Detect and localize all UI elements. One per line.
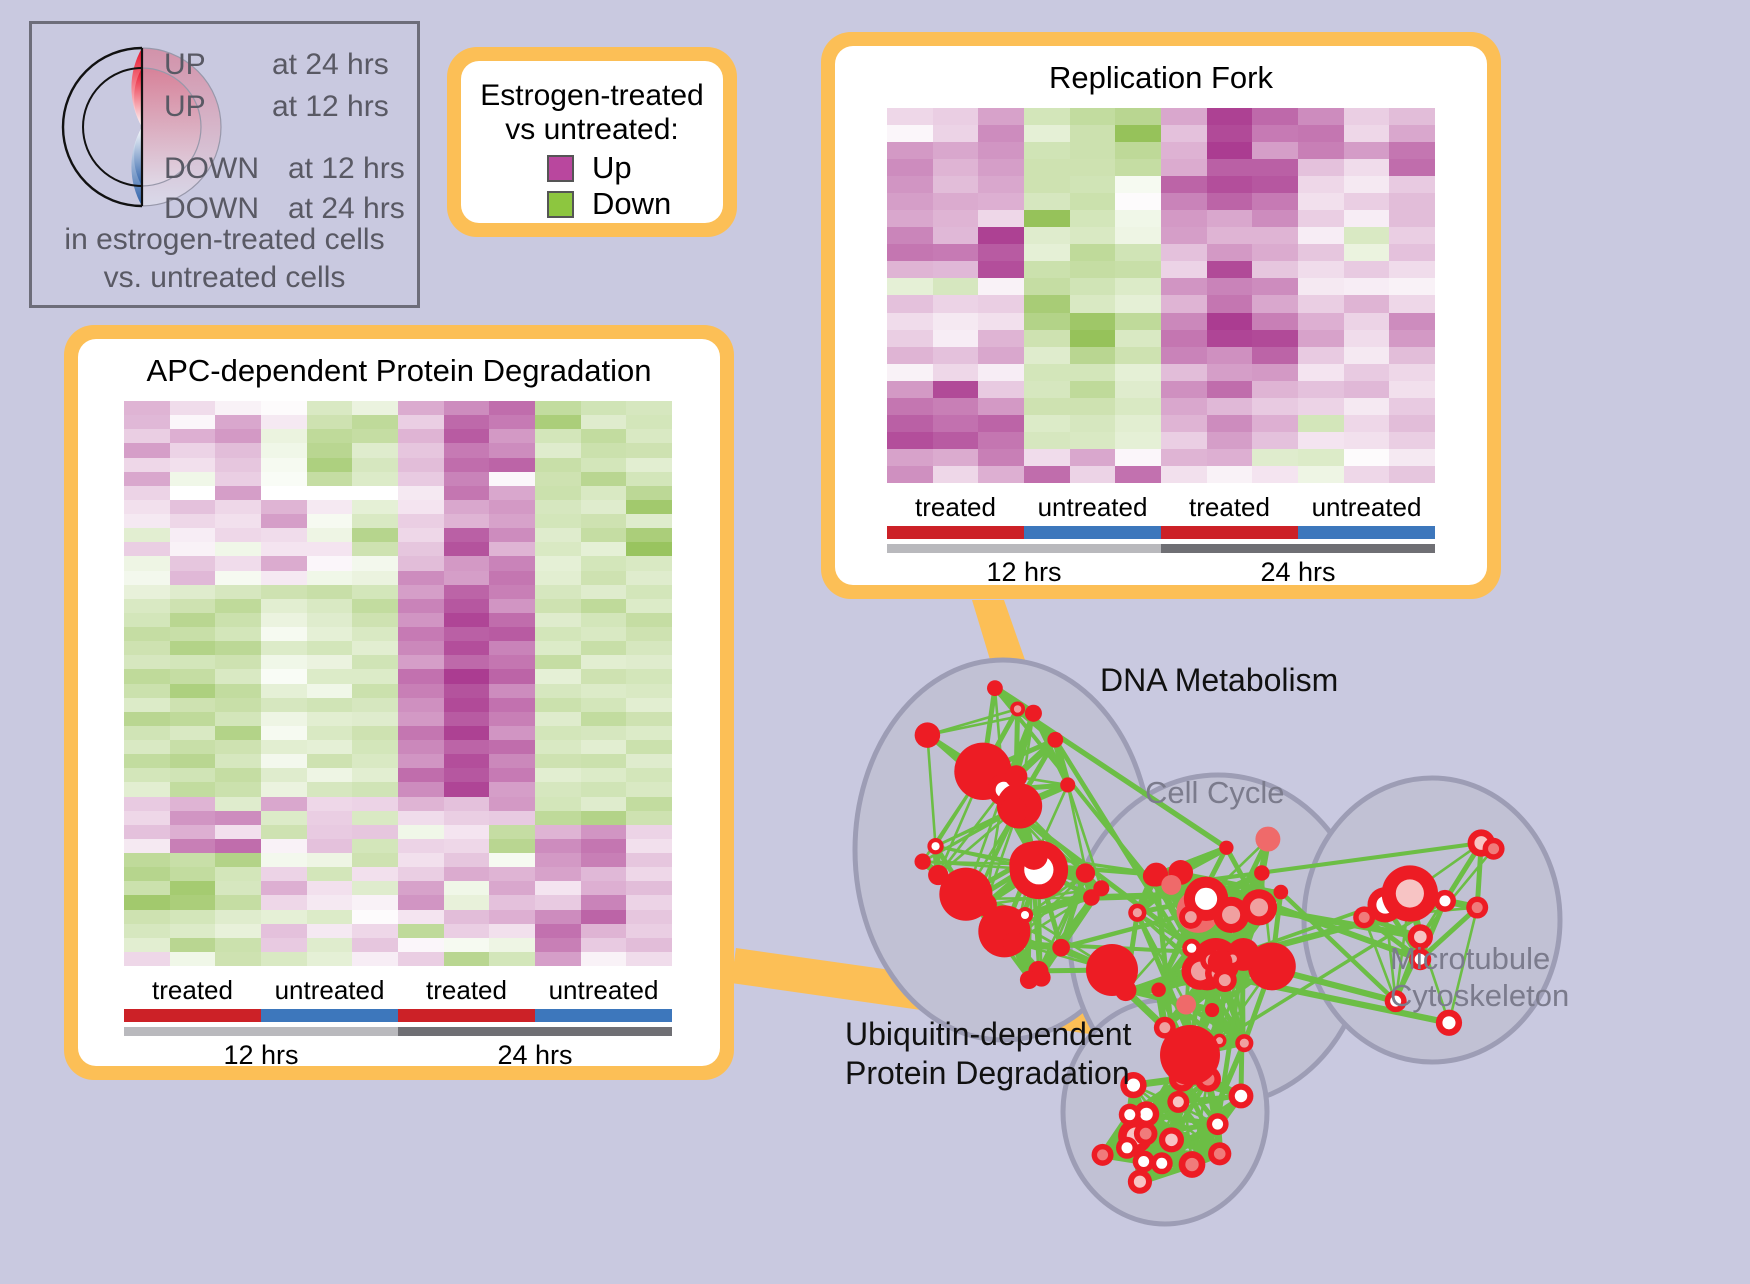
heatmap-cell <box>170 627 216 641</box>
heatmap-cell <box>1161 364 1207 381</box>
heatmap-group-label: treated <box>887 492 1024 523</box>
heatmap-cell <box>170 811 216 825</box>
heatmap-cell <box>887 159 933 176</box>
heatmap-cell <box>978 176 1024 193</box>
heatmap-cell <box>124 754 170 768</box>
heatmap-cell <box>352 797 398 811</box>
heatmap-cell <box>1207 466 1253 483</box>
heatmap-cell <box>1252 398 1298 415</box>
heatmap-group-label: untreated <box>535 975 672 1006</box>
heatmap-cell <box>626 486 672 500</box>
heatmap-cell <box>215 712 261 726</box>
apc-heatmap <box>124 401 672 966</box>
heatmap-cell <box>261 627 307 641</box>
heatmap-cell <box>307 655 353 669</box>
heatmap-cell <box>535 542 581 556</box>
heatmap-cell <box>1070 261 1116 278</box>
heatmap-cell <box>1207 159 1253 176</box>
heatmap-cell <box>398 881 444 895</box>
heatmap-cell <box>170 458 216 472</box>
heatmap-cell <box>1252 244 1298 261</box>
network-node <box>1005 765 1027 787</box>
heatmap-cell <box>444 401 490 415</box>
heatmap-cell <box>535 684 581 698</box>
heatmap-cell <box>933 176 979 193</box>
heatmap-cell <box>887 176 933 193</box>
heatmap-cell <box>261 938 307 952</box>
network-node-core <box>931 842 939 850</box>
heatmap-cell <box>170 401 216 415</box>
heatmap-cell <box>261 825 307 839</box>
heatmap-cell <box>887 244 933 261</box>
heatmap-cell <box>626 429 672 443</box>
heatmap-cell <box>215 472 261 486</box>
heatmap-cell <box>352 458 398 472</box>
heatmap-cell <box>1252 159 1298 176</box>
heatmap-cell <box>1161 330 1207 347</box>
heatmap-cell <box>978 364 1024 381</box>
network-node <box>928 865 948 885</box>
heatmap-cell <box>124 458 170 472</box>
heatmap-cell <box>352 895 398 909</box>
heatmap-cell <box>1070 364 1116 381</box>
heatmap-cell <box>1389 347 1435 364</box>
heatmap-cell <box>1161 415 1207 432</box>
heatmap-cell <box>307 938 353 952</box>
heatmap-cell <box>626 797 672 811</box>
heatmap-cell <box>887 261 933 278</box>
heatmap-cell <box>1344 278 1390 295</box>
heatmap-cell <box>626 472 672 486</box>
heatmap-time-rail-segment <box>124 1027 398 1036</box>
heatmap-cell <box>581 613 627 627</box>
network-node <box>1025 705 1042 722</box>
legend-swatch-down <box>547 191 574 218</box>
heatmap-cell <box>261 655 307 669</box>
heatmap-cell <box>489 514 535 528</box>
heatmap-cell <box>581 825 627 839</box>
network-node-core <box>1359 912 1370 923</box>
heatmap-cell <box>1252 176 1298 193</box>
heatmap-cell <box>1024 176 1070 193</box>
heatmap-cell <box>170 443 216 457</box>
heatmap-cell <box>1298 364 1344 381</box>
heatmap-cell <box>352 585 398 599</box>
heatmap-cell <box>444 415 490 429</box>
heatmap-cell <box>933 347 979 364</box>
heatmap-cell <box>170 585 216 599</box>
heatmap-cell <box>1207 193 1253 210</box>
heatmap-time-rail-segment <box>1161 544 1435 553</box>
heatmap-cell <box>978 432 1024 449</box>
heatmap-cell <box>1252 193 1298 210</box>
network-node <box>1219 841 1233 855</box>
heatmap-cell <box>261 599 307 613</box>
heatmap-cell <box>398 514 444 528</box>
heatmap-cell <box>933 125 979 142</box>
heatmap-cell <box>261 571 307 585</box>
heatmap-cell <box>352 443 398 457</box>
heatmap-cell <box>978 210 1024 227</box>
heatmap-cell <box>1389 295 1435 312</box>
heatmap-cell <box>1298 330 1344 347</box>
heatmap-cell <box>444 698 490 712</box>
heatmap-cell <box>933 261 979 278</box>
heatmap-cell <box>398 684 444 698</box>
heatmap-cell <box>398 853 444 867</box>
heatmap-group-label: treated <box>1161 492 1298 523</box>
heatmap-cell <box>626 556 672 570</box>
heatmap-cell <box>261 726 307 740</box>
heatmap-cell <box>887 313 933 330</box>
heatmap-cell <box>1252 449 1298 466</box>
heatmap-cell <box>489 782 535 796</box>
heatmap-cell <box>489 627 535 641</box>
network-node-core <box>1222 906 1240 924</box>
heatmap-cell <box>1207 381 1253 398</box>
heatmap-cell <box>581 867 627 881</box>
network-node-core <box>1488 843 1499 854</box>
heatmap-cell <box>1389 244 1435 261</box>
heatmap-cell <box>398 754 444 768</box>
heatmap-cell <box>581 839 627 853</box>
heatmap-cell <box>398 669 444 683</box>
heatmap-cell <box>1207 176 1253 193</box>
heatmap-cell <box>1344 159 1390 176</box>
heatmap-cell <box>1024 193 1070 210</box>
heatmap-cell <box>535 458 581 472</box>
heatmap-cell <box>1024 142 1070 159</box>
heatmap-cell <box>489 542 535 556</box>
heatmap-cell <box>581 797 627 811</box>
heatmap-cell <box>170 599 216 613</box>
heatmap-cell <box>489 797 535 811</box>
heatmap-cell <box>215 443 261 457</box>
heatmap-cell <box>1207 330 1253 347</box>
heatmap-cell <box>124 669 170 683</box>
heatmap-cell <box>1070 176 1116 193</box>
heatmap-cell <box>626 712 672 726</box>
heatmap-cell <box>581 627 627 641</box>
heatmap-cell <box>887 398 933 415</box>
heatmap-cell <box>1115 364 1161 381</box>
network-node-core <box>1212 1119 1223 1130</box>
network-node <box>1151 983 1165 997</box>
heatmap-cell <box>170 472 216 486</box>
heatmap-cell <box>535 952 581 966</box>
heatmap-cell <box>124 938 170 952</box>
heatmap-cell <box>535 740 581 754</box>
heatmap-cell <box>352 712 398 726</box>
heatmap-cell <box>261 797 307 811</box>
heatmap-cell <box>626 613 672 627</box>
heatmap-cell <box>444 853 490 867</box>
heatmap-cell <box>887 466 933 483</box>
heatmap-cell <box>1344 449 1390 466</box>
network-node <box>1254 865 1270 881</box>
heatmap-cell <box>1252 364 1298 381</box>
heatmap-cell <box>535 655 581 669</box>
heatmap-cell <box>1070 210 1116 227</box>
heatmap-cell <box>1298 415 1344 432</box>
heatmap-treatment-rail-segment <box>398 1009 535 1022</box>
heatmap-cell <box>535 627 581 641</box>
heatmap-cell <box>261 585 307 599</box>
heatmap-cell <box>444 938 490 952</box>
heatmap-cell <box>170 952 216 966</box>
heatmap-cell <box>1115 125 1161 142</box>
heatmap-cell <box>1024 261 1070 278</box>
heatmap-cell <box>352 853 398 867</box>
heatmap-cell <box>1024 295 1070 312</box>
heatmap-cell <box>535 726 581 740</box>
heatmap-cell <box>626 571 672 585</box>
heatmap-cell <box>124 401 170 415</box>
heatmap-group-label: untreated <box>1298 492 1435 523</box>
heatmap-cell <box>535 599 581 613</box>
heatmap-cell <box>352 867 398 881</box>
heatmap-cell <box>489 486 535 500</box>
heatmap-cell <box>581 542 627 556</box>
heatmap-cell <box>398 910 444 924</box>
heatmap-cell <box>444 811 490 825</box>
heatmap-cell <box>1207 347 1253 364</box>
heatmap-cell <box>626 811 672 825</box>
heatmap-cell <box>1161 381 1207 398</box>
heatmap-cell <box>1252 415 1298 432</box>
heatmap-cell <box>978 108 1024 125</box>
heatmap-cell <box>1115 108 1161 125</box>
heatmap-cell <box>535 797 581 811</box>
heatmap-cell <box>933 193 979 210</box>
heatmap-cell <box>1115 227 1161 244</box>
heatmap-cell <box>352 811 398 825</box>
heatmap-cell <box>489 938 535 952</box>
network-node-core <box>1173 1096 1184 1107</box>
heatmap-cell <box>1252 432 1298 449</box>
heatmap-cell <box>489 881 535 895</box>
network-node <box>1076 863 1095 882</box>
network-node <box>1255 827 1280 852</box>
heatmap-cell <box>398 542 444 556</box>
heatmap-cell <box>933 210 979 227</box>
heatmap-cell <box>489 443 535 457</box>
heatmap-cell <box>1298 125 1344 142</box>
heatmap-cell <box>215 839 261 853</box>
heatmap-cell <box>261 881 307 895</box>
heatmap-cell <box>1115 347 1161 364</box>
heatmap-cell <box>1252 210 1298 227</box>
heatmap-cell <box>307 740 353 754</box>
heatmap-cell <box>978 261 1024 278</box>
heatmap-cell <box>1252 125 1298 142</box>
heatmap-cell <box>444 571 490 585</box>
heatmap-cell <box>398 698 444 712</box>
color-key-state-0: UP <box>164 48 206 82</box>
heatmap-cell <box>307 825 353 839</box>
heatmap-cell <box>978 295 1024 312</box>
heatmap-cell <box>352 542 398 556</box>
color-key-time-0: at 24 hrs <box>272 48 389 82</box>
heatmap-cell <box>352 627 398 641</box>
network-node-core <box>1442 1016 1455 1029</box>
heatmap-cell <box>581 881 627 895</box>
heatmap-cell <box>626 599 672 613</box>
pathway-network: DNA Metabolism Cell Cycle Microtubule Cy… <box>790 600 1750 1279</box>
heatmap-cell <box>444 754 490 768</box>
heatmap-cell <box>215 401 261 415</box>
heatmap-cell <box>124 627 170 641</box>
network-node <box>1205 1003 1219 1017</box>
heatmap-cell <box>398 797 444 811</box>
heatmap-cell <box>307 910 353 924</box>
heatmap-cell <box>581 514 627 528</box>
heatmap-cell <box>489 895 535 909</box>
heatmap-cell <box>1161 142 1207 159</box>
network-node-core <box>1159 1022 1170 1033</box>
heatmap-cell <box>1344 125 1390 142</box>
heatmap-cell <box>489 726 535 740</box>
heatmap-cell <box>1298 278 1344 295</box>
heatmap-cell <box>1207 278 1253 295</box>
heatmap-cell <box>124 839 170 853</box>
heatmap-cell <box>215 698 261 712</box>
cluster-label-ubiquitin-line1: Ubiquitin-dependent <box>845 1015 1131 1054</box>
legend-title-line1: Estrogen-treated <box>461 79 723 113</box>
cluster-label-cell-cycle: Cell Cycle <box>1145 775 1285 811</box>
heatmap-cell <box>489 528 535 542</box>
heatmap-cell <box>1207 364 1253 381</box>
heatmap-cell <box>1252 295 1298 312</box>
heatmap-cell <box>1070 142 1116 159</box>
heatmap-cell <box>444 514 490 528</box>
heatmap-cell <box>170 571 216 585</box>
heatmap-cell <box>170 768 216 782</box>
cluster-label-dna-metabolism: DNA Metabolism <box>1100 662 1338 699</box>
network-node <box>966 889 986 909</box>
heatmap-cell <box>170 698 216 712</box>
heatmap-cell <box>1024 125 1070 142</box>
heatmap-cell <box>1298 227 1344 244</box>
heatmap-cell <box>261 542 307 556</box>
heatmap-cell <box>626 514 672 528</box>
heatmap-cell <box>124 895 170 909</box>
heatmap-time-label: 12 hrs <box>124 1040 398 1071</box>
heatmap-cell <box>398 500 444 514</box>
heatmap-cell <box>626 458 672 472</box>
heatmap-cell <box>1161 466 1207 483</box>
heatmap-cell <box>170 669 216 683</box>
heatmap-cell <box>581 458 627 472</box>
heatmap-cell <box>1024 210 1070 227</box>
heatmap-cell <box>489 613 535 627</box>
heatmap-cell <box>444 952 490 966</box>
network-node-core <box>1185 1158 1198 1171</box>
heatmap-cell <box>1161 176 1207 193</box>
heatmap-cell <box>352 500 398 514</box>
heatmap-cell <box>307 514 353 528</box>
heatmap-cell <box>581 853 627 867</box>
heatmap-cell <box>933 313 979 330</box>
heatmap-cell <box>398 486 444 500</box>
heatmap-cell <box>215 895 261 909</box>
heatmap-cell <box>398 825 444 839</box>
heatmap-cell <box>581 415 627 429</box>
heatmap-cell <box>215 486 261 500</box>
heatmap-cell <box>352 698 398 712</box>
heatmap-cell <box>535 839 581 853</box>
heatmap-cell <box>581 782 627 796</box>
heatmap-cell <box>887 193 933 210</box>
network-node-core <box>1235 1090 1247 1102</box>
heatmap-cell <box>124 952 170 966</box>
heatmap-cell <box>352 768 398 782</box>
network-node <box>1086 944 1138 996</box>
heatmap-cell <box>170 910 216 924</box>
heatmap-cell <box>535 401 581 415</box>
heatmap-cell <box>933 295 979 312</box>
heatmap-cell <box>261 443 307 457</box>
network-node <box>1060 777 1075 792</box>
heatmap-cell <box>352 472 398 486</box>
heatmap-cell <box>1024 278 1070 295</box>
heatmap-cell <box>1024 159 1070 176</box>
legend-title-line2: vs untreated: <box>461 113 723 147</box>
heatmap-cell <box>170 938 216 952</box>
heatmap-cell <box>170 754 216 768</box>
heatmap-cell <box>307 924 353 938</box>
network-node-core <box>1097 1149 1108 1160</box>
heatmap-cell <box>124 641 170 655</box>
heatmap-cell <box>215 528 261 542</box>
heatmap-cell <box>215 740 261 754</box>
heatmap-cell <box>1298 108 1344 125</box>
heatmap-cell <box>626 726 672 740</box>
heatmap-cell <box>444 768 490 782</box>
heatmap-cell <box>1344 415 1390 432</box>
heatmap-cell <box>1252 142 1298 159</box>
heatmap-cell <box>398 443 444 457</box>
heatmap-cell <box>1161 159 1207 176</box>
heatmap-cell <box>1344 227 1390 244</box>
heatmap-cell <box>170 514 216 528</box>
network-node <box>987 680 1003 696</box>
heatmap-cell <box>626 768 672 782</box>
heatmap-time-label: 24 hrs <box>1161 557 1435 588</box>
heatmap-cell <box>887 364 933 381</box>
heatmap-cell <box>1070 295 1116 312</box>
replication-fork-panel: Replication Fork treateduntreatedtreated… <box>821 32 1501 599</box>
heatmap-cell <box>398 726 444 740</box>
heatmap-treatment-rail-segment <box>1161 526 1298 539</box>
heatmap-cell <box>535 895 581 909</box>
heatmap-cell <box>489 853 535 867</box>
heatmap-cell <box>489 641 535 655</box>
heatmap-cell <box>261 514 307 528</box>
heatmap-cell <box>398 782 444 796</box>
heatmap-cell <box>261 754 307 768</box>
network-node-core <box>1185 911 1197 923</box>
heatmap-cell <box>307 458 353 472</box>
heatmap-cell <box>444 797 490 811</box>
network-node-core <box>1250 898 1268 916</box>
apc-group-labels: treateduntreatedtreateduntreated <box>124 975 672 1006</box>
heatmap-cell <box>1344 142 1390 159</box>
heatmap-cell <box>1161 244 1207 261</box>
heatmap-cell <box>170 881 216 895</box>
heatmap-cell <box>489 585 535 599</box>
heatmap-cell <box>444 867 490 881</box>
